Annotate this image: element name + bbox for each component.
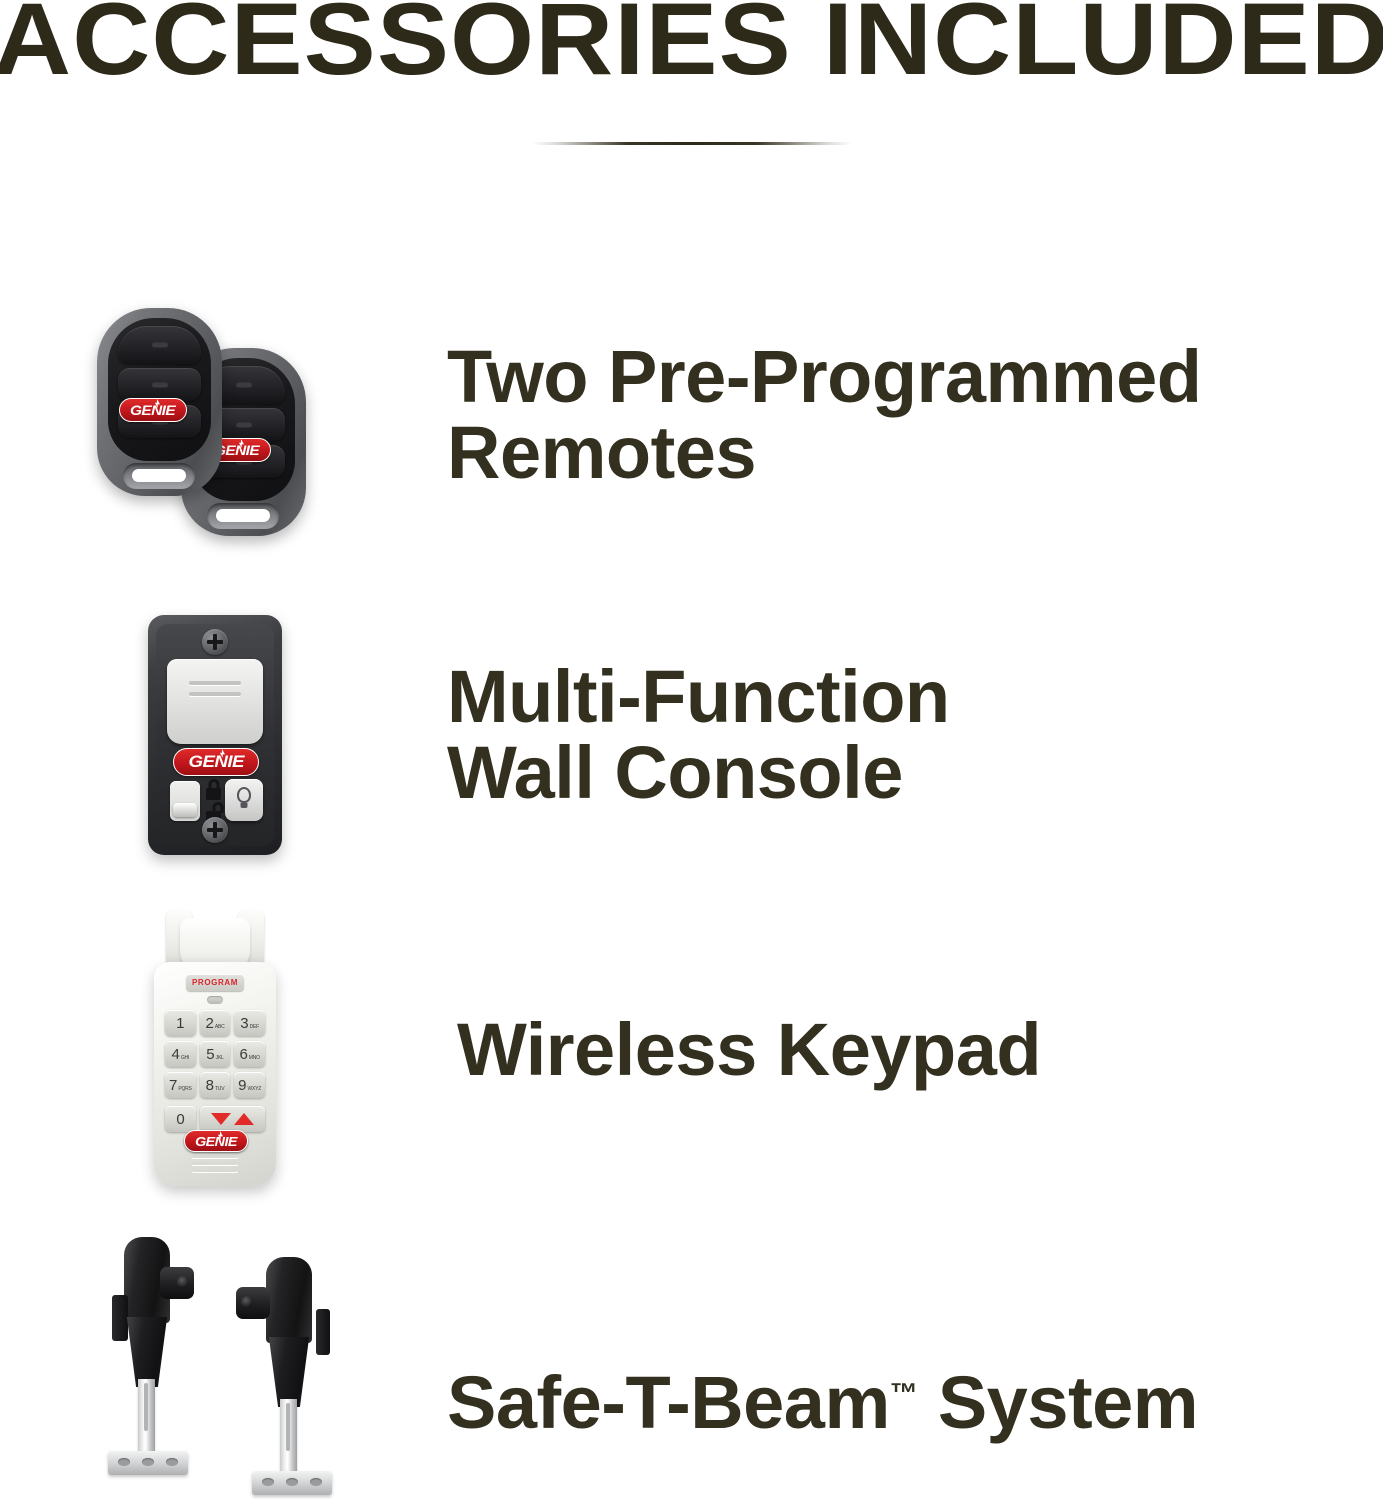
keypad-key-number: 3 [240,1016,248,1031]
keypad-key-letters: MNO [249,1056,260,1061]
sensor-lens-icon [236,1287,270,1319]
lock-closed-icon [206,788,221,800]
keypad-vent-lines [192,1155,238,1176]
sensor-mounting-bracket [252,1471,332,1495]
accessory-row-keypad: PROGRAM 12ABC3DEF4GHI5JKL6MNO7PQRS8TUV9W… [0,905,1383,1195]
screw-bottom-icon [202,817,228,843]
genie-logo-text: GENIE [188,752,243,772]
keypad-key-2: 2ABC [200,1010,231,1036]
genie-logo-text: GENIE [195,1134,237,1149]
vent-line-icon [192,1155,238,1158]
bracket-hole-icon [166,1458,178,1466]
keypad-key-letters: WXYZ [248,1087,262,1092]
arrow-down-icon [211,1113,231,1125]
button-nub-icon [152,343,168,348]
safe-t-beam-sensor-right [222,1257,332,1507]
status-led-icon [207,996,223,1004]
sensor-body [268,1337,310,1407]
bracket-hole-icon [262,1478,274,1486]
button-nub-icon [236,422,252,427]
accessory-label-wall-console: Multi-Function Wall Console [447,659,950,811]
accessory-row-remotes: GENIE GENIE Two Pre-Programmed Remotes [0,290,1383,540]
keypad-key-9: 9WXYZ [234,1072,265,1098]
remote-keyring-loop [207,503,279,529]
safe-t-beam-name: Safe-T-Beam [447,1361,890,1444]
genie-logo-badge: GENIE [173,748,259,776]
keypad-key-number: 2 [205,1016,213,1031]
safe-t-beam-suffix: System [918,1361,1198,1444]
keypad-key-0: 0 [165,1106,196,1132]
keypad-key-1: 1 [165,1010,196,1036]
keypad-key-6: 6MNO [234,1041,265,1067]
remote-keyring-loop [123,463,195,489]
keypad-key-7: 7PQRS [165,1072,196,1098]
keypad-key-number: 5 [206,1047,214,1062]
trademark-icon: ™ [890,1377,918,1408]
accessory-row-wall-console: GENIE Multi-Function Wall Console [0,600,1383,870]
keypad-key-number: 9 [238,1078,246,1093]
program-button: PROGRAM [186,974,244,991]
keypad-key-letters: ABC [215,1025,225,1030]
remote-button-panel [108,318,211,461]
light-bulb-icon [237,787,251,803]
genie-logo-badge: GENIE [184,1130,248,1152]
safe-t-beam-image [0,1231,430,1499]
keypad-key-number: 7 [169,1078,177,1093]
vent-line-icon [192,1169,238,1172]
bracket-hole-icon [310,1478,322,1486]
arrow-up-icon [234,1113,254,1125]
keypad-key-number: 4 [172,1047,180,1062]
bracket-hole-icon [118,1458,130,1466]
bracket-hole-icon [142,1458,154,1466]
sensor-lens-icon [160,1267,194,1299]
vent-line-icon [192,1162,238,1165]
screw-top-icon [202,629,228,655]
button-nub-icon [236,383,252,388]
light-button [225,779,263,821]
keypad-key-5: 5JKL [200,1041,231,1067]
safe-t-beam-stage [80,1231,350,1499]
accessory-label-remotes: Two Pre-Programmed Remotes [447,339,1201,491]
keypad-key-number: 8 [206,1078,214,1093]
sensor-wire-clip [316,1309,330,1355]
bracket-hole-icon [286,1478,298,1486]
door-line-icon [189,681,241,685]
page-header: ACCESSORIES INCLUDED [0,0,1383,180]
remotes-image: GENIE GENIE [0,300,430,530]
keypad-key-arrows [200,1106,265,1132]
keypad-key-letters: GHI [181,1056,189,1061]
keypad-body: PROGRAM 12ABC3DEF4GHI5JKL6MNO7PQRS8TUV9W… [154,962,276,1186]
keypad-key-letters: DEF [250,1025,259,1030]
accessory-row-safe-t-beam: Safe-T-Beam™ System [0,1230,1383,1500]
wireless-keypad-image: PROGRAM 12ABC3DEF4GHI5JKL6MNO7PQRS8TUV9W… [0,910,430,1190]
title-divider [532,142,852,145]
accessory-label-safe-t-beam: Safe-T-Beam™ System [447,1289,1198,1441]
door-line-icon [189,692,241,696]
keypad-bottom-row: 0 [165,1106,265,1132]
keypad-stage: PROGRAM 12ABC3DEF4GHI5JKL6MNO7PQRS8TUV9W… [140,910,290,1190]
remote-button-middle [118,368,201,401]
wall-console-body: GENIE [148,615,282,855]
keypad-key-letters: JKL [216,1056,224,1061]
wall-console-image: GENIE [0,615,430,855]
genie-logo-badge: GENIE [119,398,187,422]
page-title: ACCESSORIES INCLUDED [0,0,1383,90]
sensor-wire-clip [112,1295,128,1341]
keypad-key-letters: TUV [215,1087,224,1092]
keypad-key-3: 3DEF [234,1010,265,1036]
vacation-lock-switch [170,781,200,821]
button-nub-icon [152,382,168,387]
sensor-body [126,1317,168,1387]
keypad-key-number: 6 [239,1047,247,1062]
keypad-key-4: 4GHI [165,1041,196,1067]
remote-button-top [118,326,201,364]
door-open-close-button [167,659,263,744]
remote-fob-1: GENIE [97,308,222,496]
sensor-mounting-post [138,1379,155,1457]
accessory-label-keypad: Wireless Keypad [457,1012,1041,1088]
sensor-mounting-post [280,1399,297,1477]
genie-logo-text: GENIE [130,402,175,418]
keypad-number-grid: 12ABC3DEF4GHI5JKL6MNO7PQRS8TUV9WXYZ [165,1010,265,1098]
safe-t-beam-sensor-left [108,1237,218,1487]
sensor-head [266,1257,312,1343]
keypad-key-8: 8TUV [200,1072,231,1098]
keypad-key-number: 1 [176,1016,184,1031]
remote-pair-stage: GENIE GENIE [85,300,345,530]
sensor-mounting-bracket [108,1451,188,1475]
keypad-key-letters: PQRS [178,1087,191,1092]
switch-knob [173,803,197,817]
